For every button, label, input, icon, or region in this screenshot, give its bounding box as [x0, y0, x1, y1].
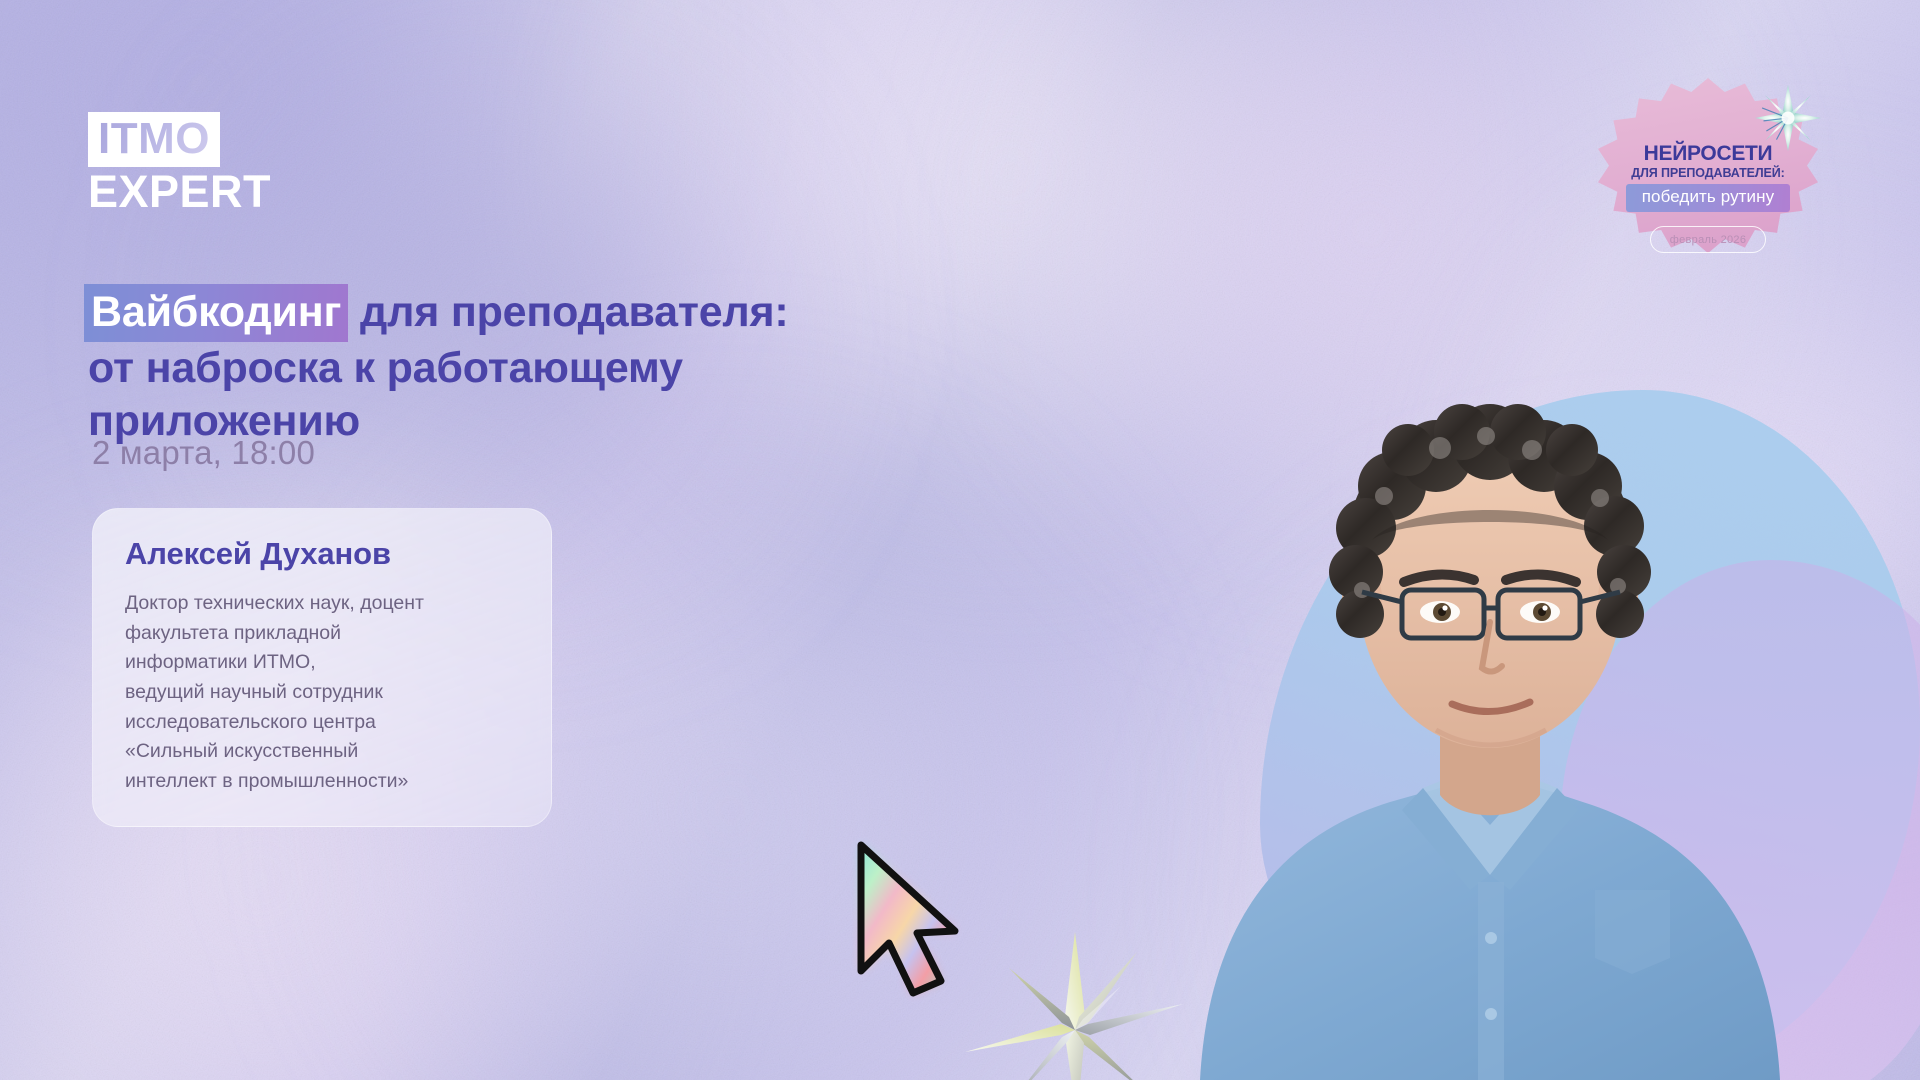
- speaker-card: Алексей Духанов Доктор технических наук,…: [92, 508, 552, 827]
- logo-itmo-box: ITMO: [88, 112, 220, 167]
- event-poster: ITMO EXPERT Вайбкодинг для преподавателя…: [0, 0, 1920, 1080]
- badge-period-pill: февраль 2026: [1650, 226, 1766, 253]
- series-badge: НЕЙРОСЕТИ ДЛЯ ПРЕПОДАВАТЕЛЕЙ: победить р…: [1598, 78, 1818, 268]
- logo-itmo-text: ITMO: [98, 117, 210, 161]
- badge-line2: ДЛЯ ПРЕПОДАВАТЕЛЕЙ:: [1598, 166, 1818, 180]
- headline-line2: от наброска к работающему: [88, 344, 683, 392]
- headline-highlight: Вайбкодинг: [84, 284, 348, 342]
- page-title: Вайбкодинг для преподавателя: от наброск…: [88, 284, 918, 447]
- badge-period: февраль 2026: [1670, 234, 1747, 246]
- badge-line3: победить рутину: [1642, 187, 1775, 206]
- sparkle-icon: [1752, 82, 1824, 154]
- event-datetime: 2 марта, 18:00: [92, 434, 315, 472]
- logo-expert-text: EXPERT: [88, 169, 274, 215]
- itmo-expert-logo: ITMO EXPERT: [88, 112, 274, 215]
- speaker-bio: Доктор технических наук, доцент факульте…: [125, 589, 519, 796]
- chrome-star-icon: [960, 930, 1190, 1080]
- speaker-name: Алексей Духанов: [125, 537, 519, 571]
- badge-line3-highlight: победить рутину: [1626, 184, 1790, 212]
- headline-rest-line1: для преподавателя:: [348, 288, 788, 336]
- speaker-portrait: [1140, 290, 1840, 1080]
